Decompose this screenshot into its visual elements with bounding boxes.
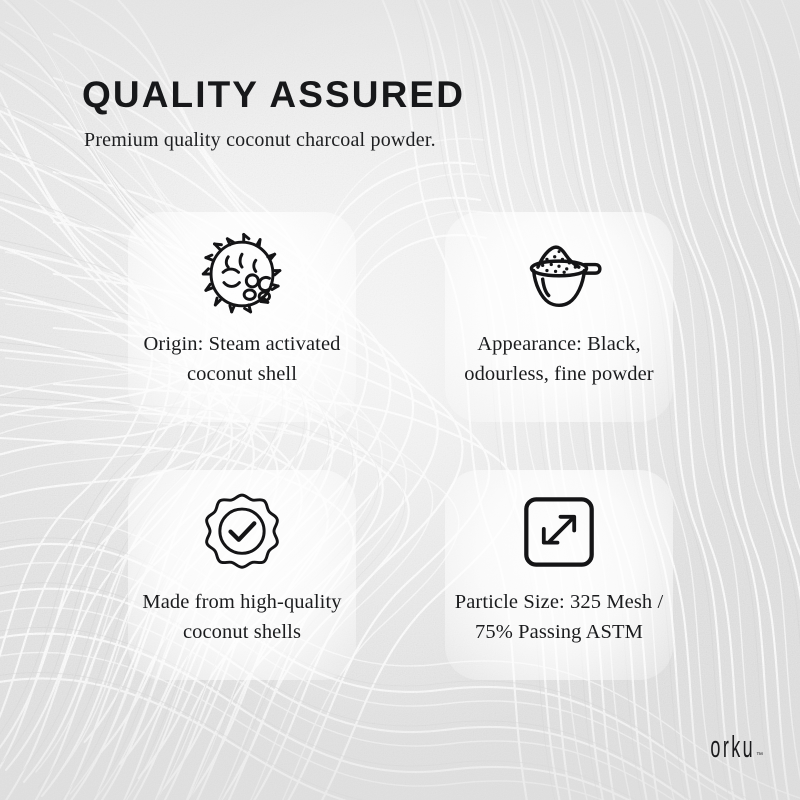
coconut-shell-icon	[196, 228, 288, 320]
page-title: QUALITY ASSURED	[82, 76, 722, 115]
feature-card-particle-size: Particle Size: 325 Mesh / 75% Passing AS…	[445, 470, 673, 680]
content-layer: QUALITY ASSURED Premium quality coconut …	[0, 0, 800, 800]
feature-card-text: Appearance: Black, odourless, fine powde…	[448, 329, 671, 389]
brand-name: orku	[710, 731, 755, 762]
feature-card-appearance: Appearance: Black, odourless, fine powde…	[445, 212, 673, 422]
infographic-page: QUALITY ASSURED Premium quality coconut …	[0, 0, 800, 800]
feature-card-quality: Made from high-quality coconut shells	[128, 470, 356, 680]
header: QUALITY ASSURED Premium quality coconut …	[82, 76, 722, 152]
measuring-scoop-powder-icon	[513, 228, 605, 320]
feature-card-text: Made from high-quality coconut shells	[131, 587, 354, 647]
feature-card-text: Origin: Steam activated coconut shell	[131, 329, 354, 389]
page-subtitle: Premium quality coconut charcoal powder.	[84, 128, 722, 152]
feature-card-grid: Origin: Steam activated coconut shell	[128, 212, 673, 680]
expand-arrows-square-icon	[513, 486, 605, 578]
quality-badge-check-icon	[196, 486, 288, 578]
feature-card-origin: Origin: Steam activated coconut shell	[128, 212, 356, 422]
trademark-symbol: ™	[756, 752, 763, 759]
feature-card-text: Particle Size: 325 Mesh / 75% Passing AS…	[448, 587, 671, 647]
brand-logo: orku ™	[678, 731, 763, 762]
